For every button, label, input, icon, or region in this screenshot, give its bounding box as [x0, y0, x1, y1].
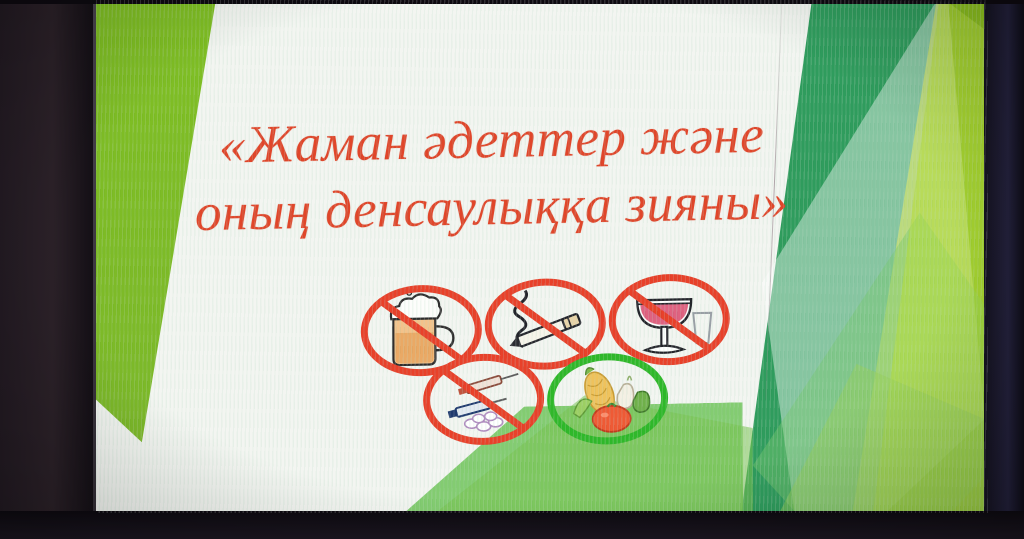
- presentation-slide: «Жаман әдеттер және оның денсаулыққа зия…: [96, 0, 988, 513]
- monitor-screen: «Жаман әдеттер және оның денсаулыққа зия…: [96, 0, 988, 513]
- slide-title: «Жаман әдеттер және оның денсаулыққа зия…: [96, 99, 912, 249]
- monitor-bezel-right: [984, 0, 1024, 539]
- monitor-bezel-top: [0, 0, 1024, 4]
- photograph-of-monitor: «Жаман әдеттер және оның денсаулыққа зия…: [0, 0, 1024, 539]
- vegetables-approved-icon: [545, 348, 669, 446]
- monitor-bezel-left: [0, 0, 96, 539]
- syringe-pills-prohibited-icon: [421, 348, 545, 446]
- monitor-bezel-bottom: [0, 511, 1024, 539]
- habit-icons-group: [337, 270, 758, 468]
- monitor-bezel-edge: [93, 0, 96, 539]
